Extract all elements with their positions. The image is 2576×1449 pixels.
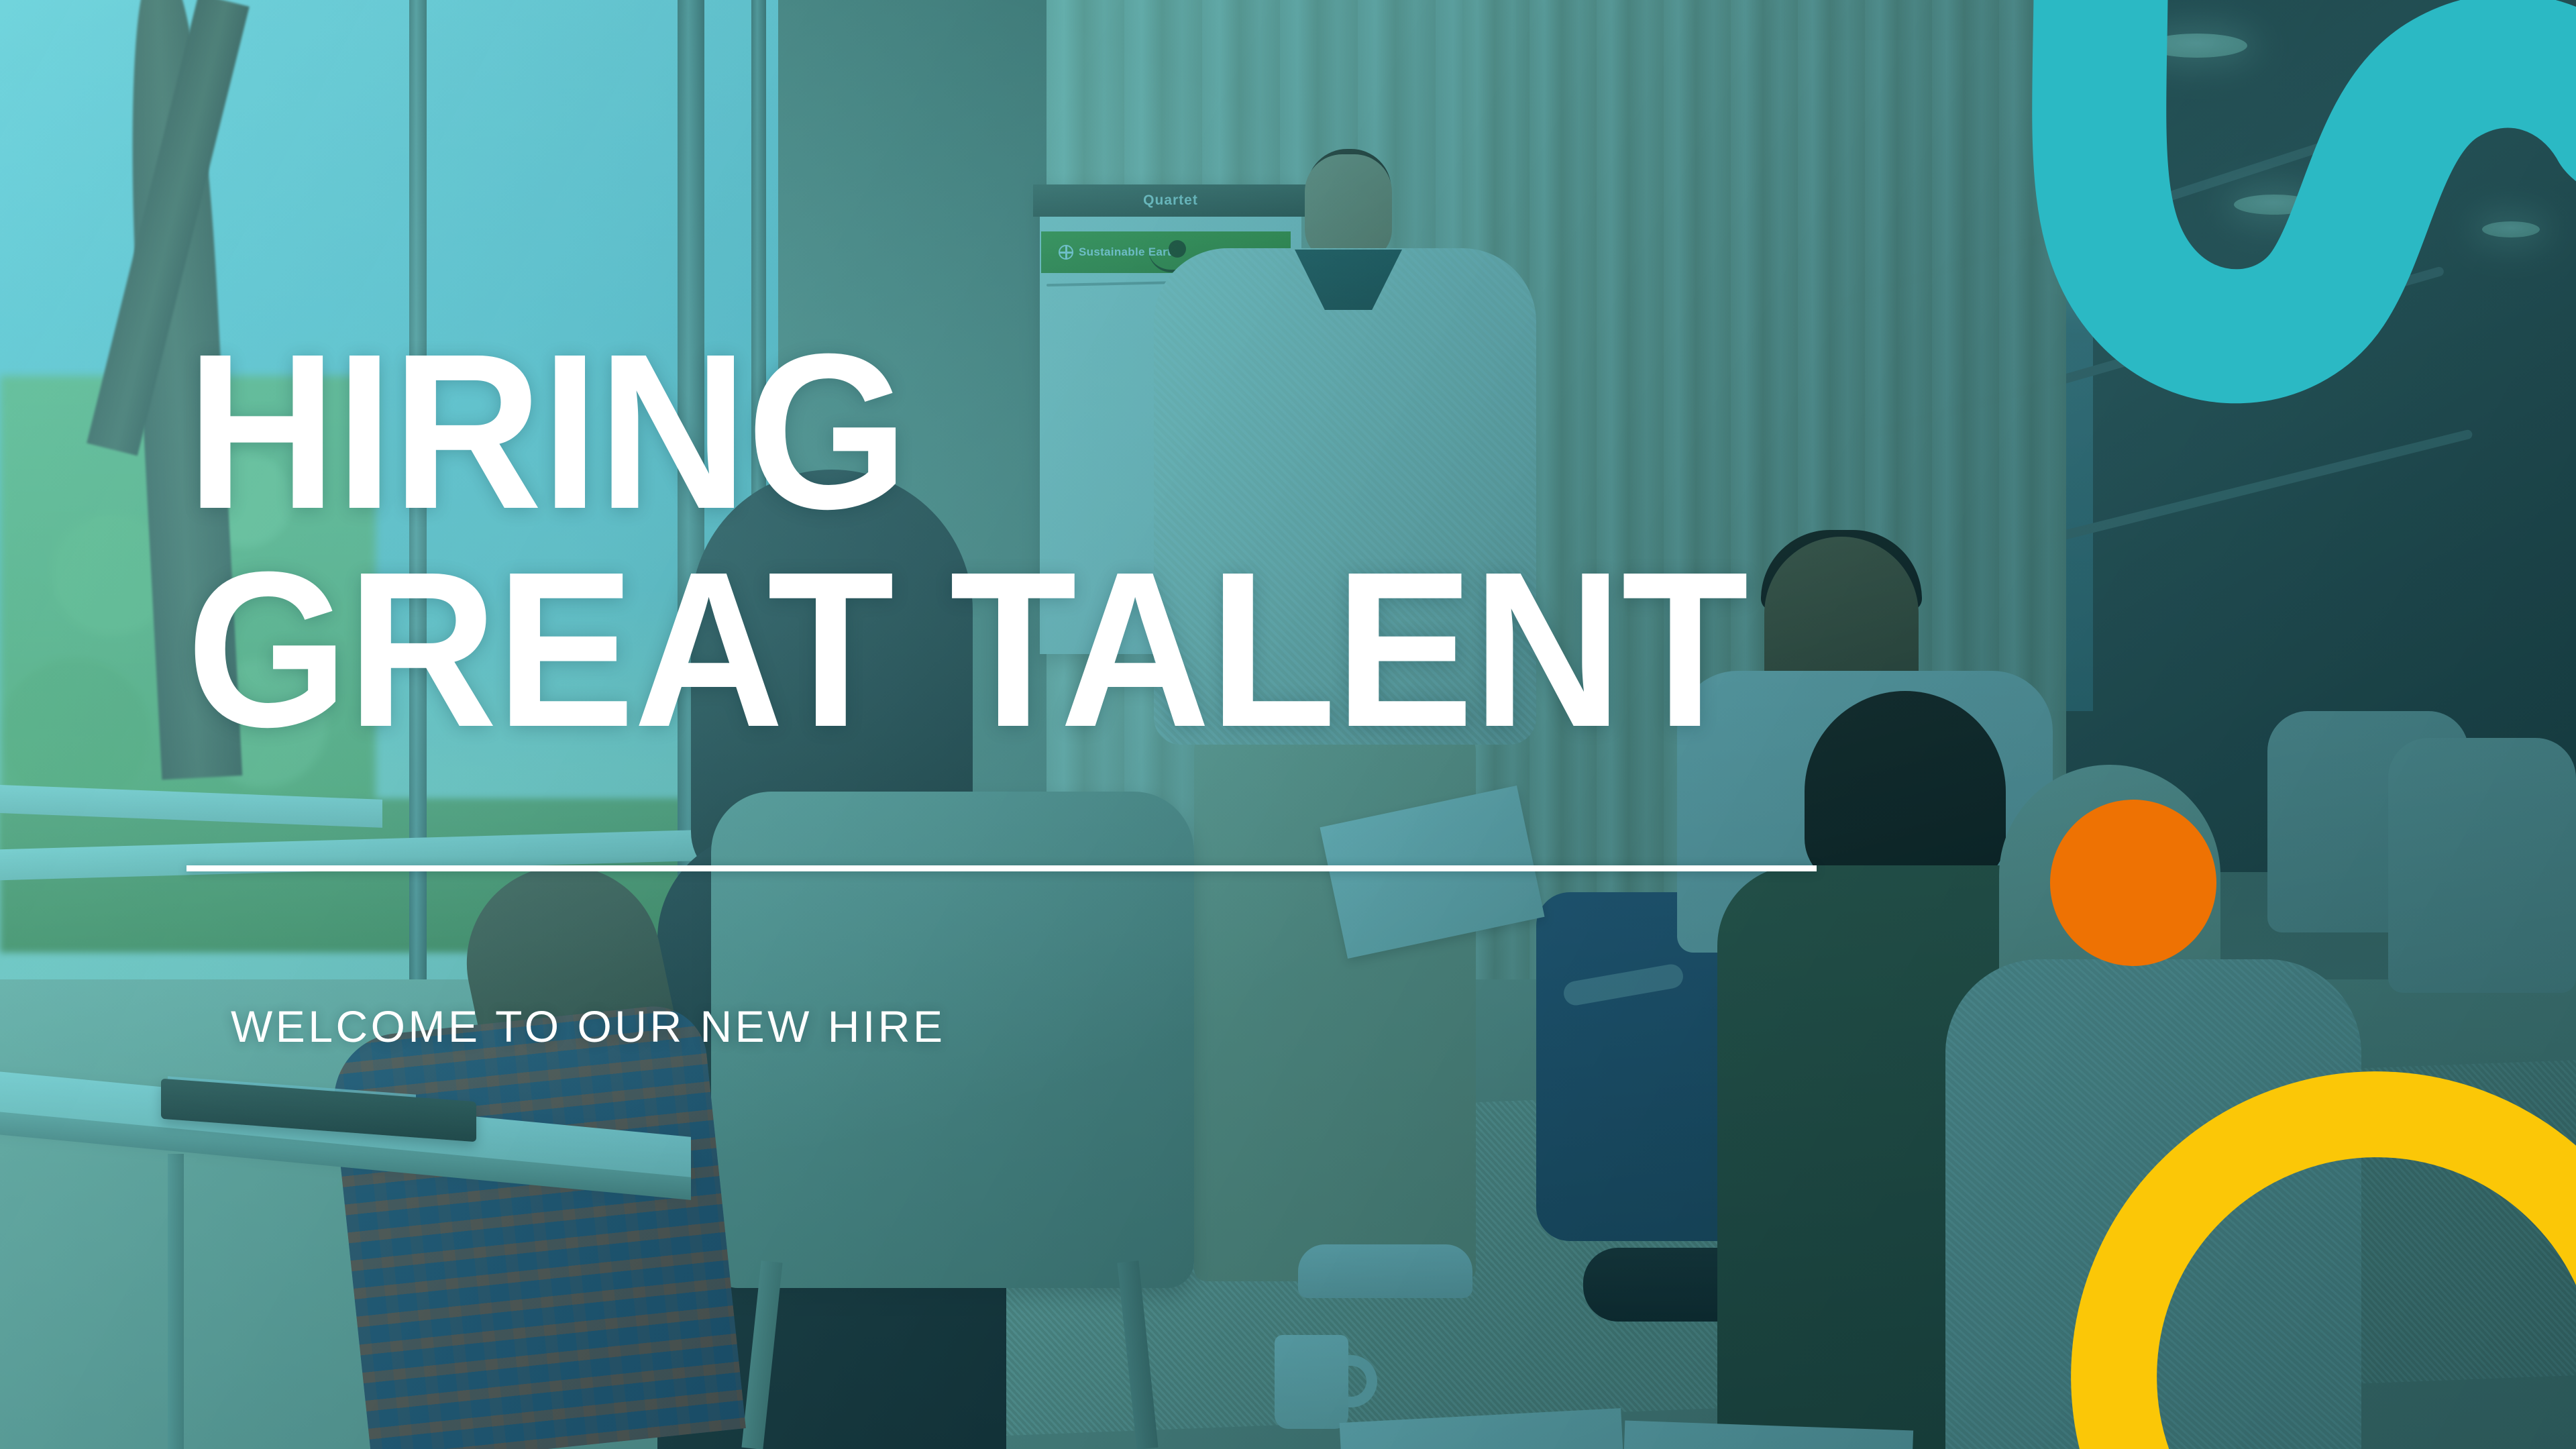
page-title: HIRING GREAT TALENT [186,322,1748,758]
headline-line-2: GREAT TALENT [186,540,1748,758]
divider-rule [186,865,1817,871]
hiring-banner: Quartet Sustainable Earth [0,0,2576,1449]
headline-line-1: HIRING [186,322,1748,540]
subtitle-text: WELCOME TO OUR NEW HIRE [231,1001,945,1052]
